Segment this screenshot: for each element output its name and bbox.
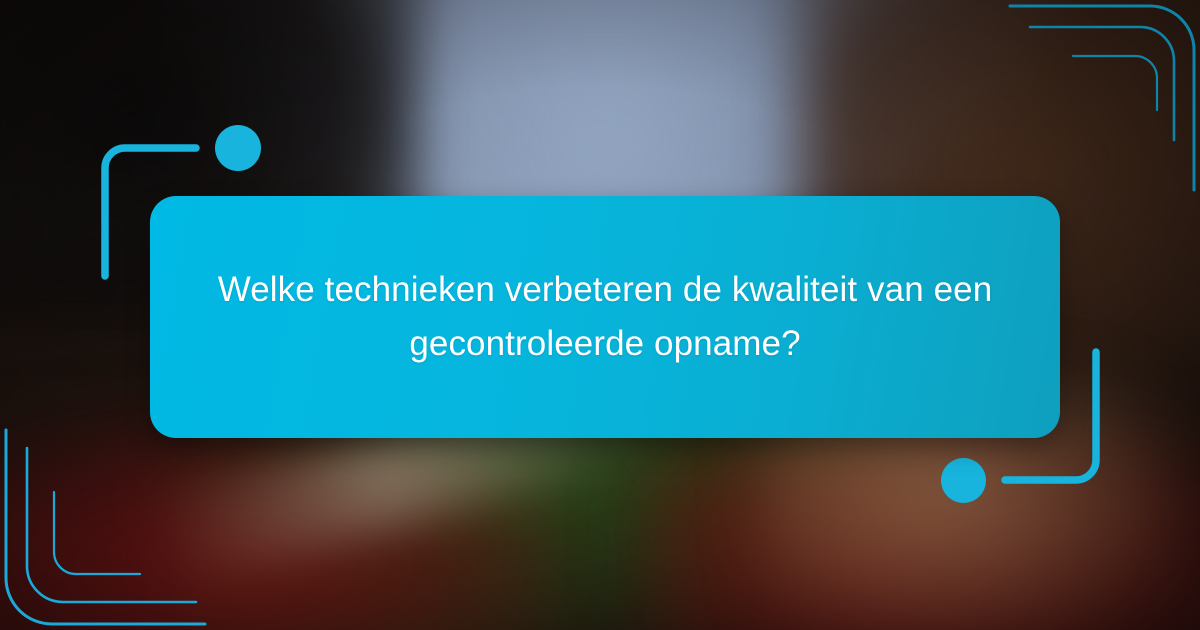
dot-bottom-right-icon [941, 458, 986, 503]
question-text: Welke technieken verbeteren de kwaliteit… [150, 263, 1060, 372]
question-card: Welke technieken verbeteren de kwaliteit… [150, 196, 1060, 438]
dot-top-left-icon [215, 125, 261, 171]
poster-canvas: Welke technieken verbeteren de kwaliteit… [0, 0, 1200, 630]
